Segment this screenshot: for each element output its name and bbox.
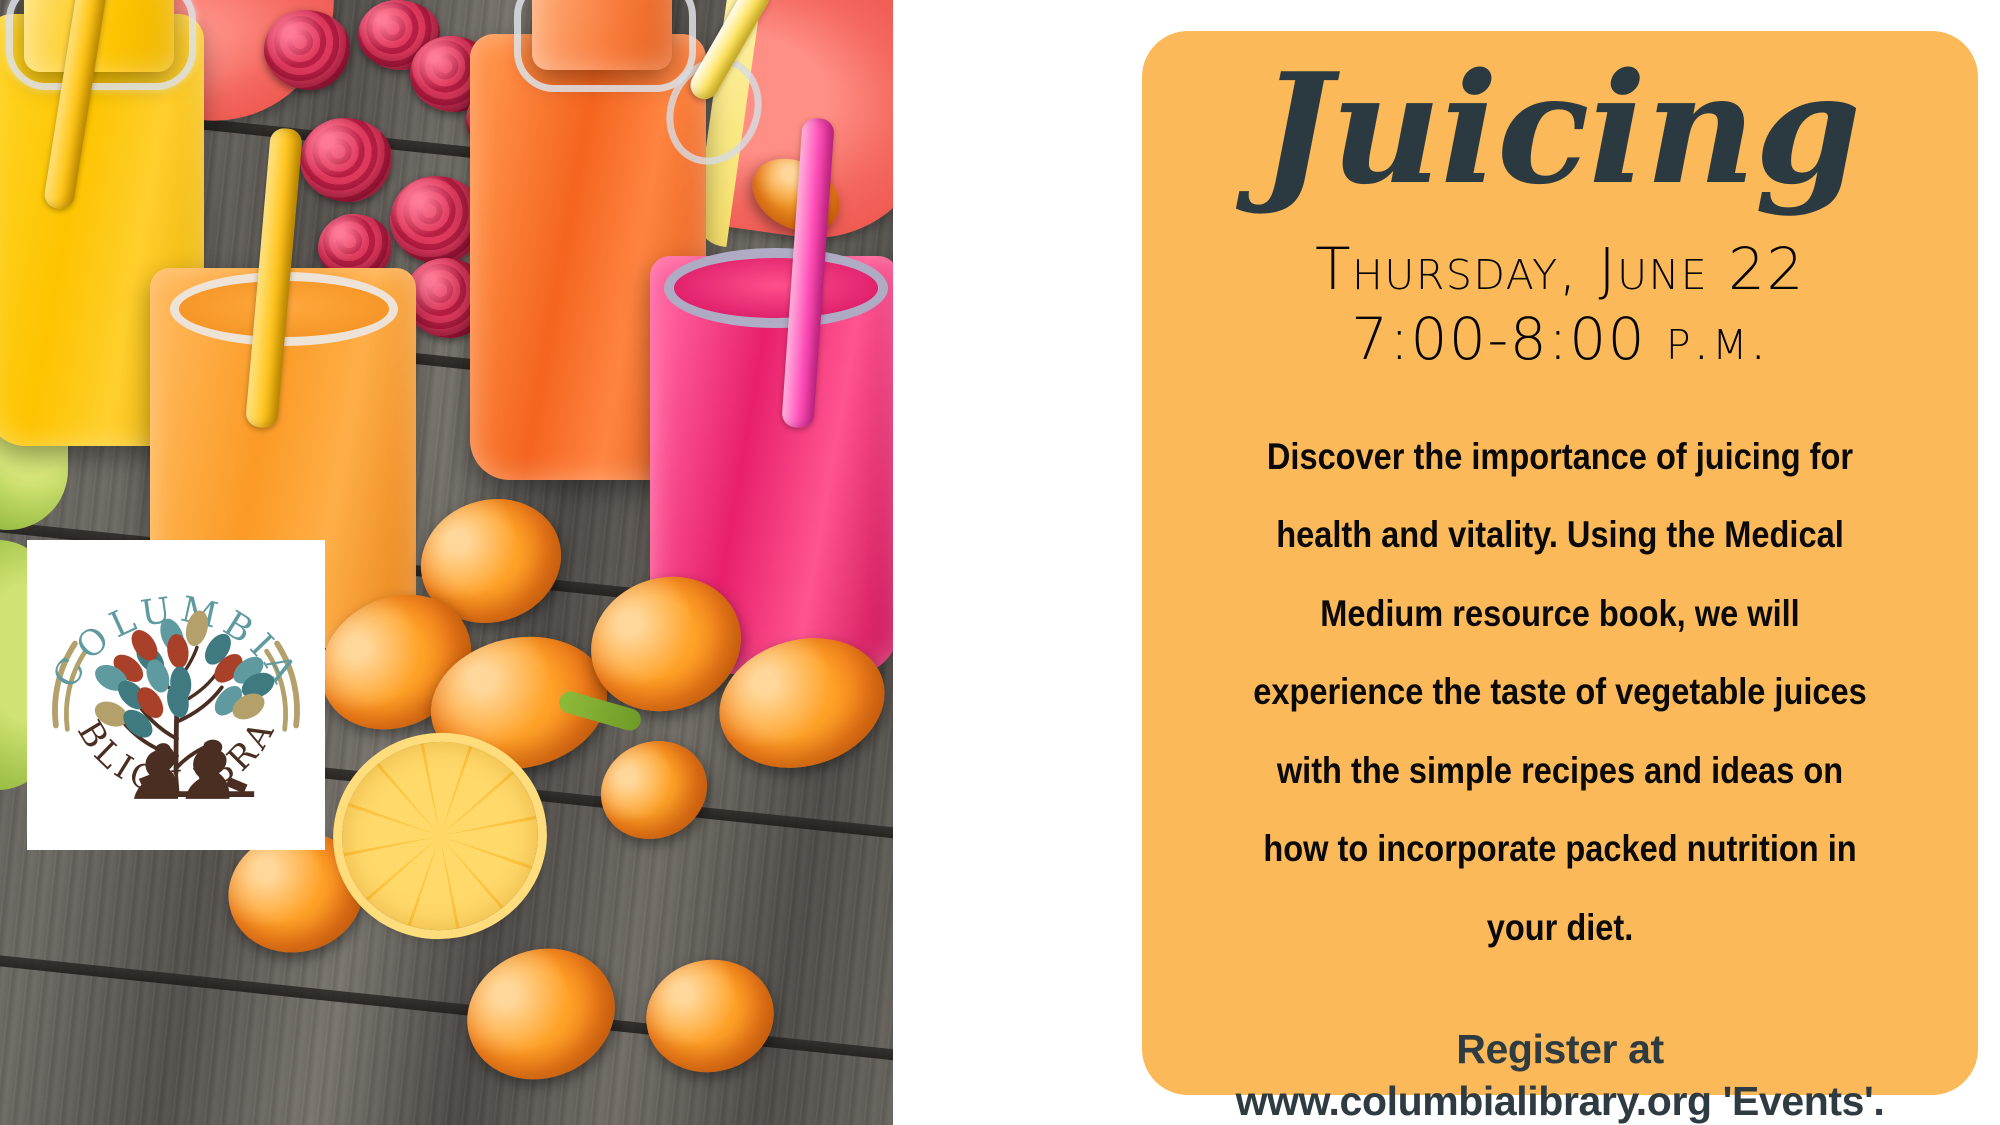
event-date: Thursday, June 22: [1315, 235, 1805, 303]
raspberry: [264, 10, 350, 90]
event-description: Discover the importance of juicing for h…: [1252, 418, 1868, 967]
registration-info: Register at www.columbialibrary.org 'Eve…: [1236, 1023, 1885, 1125]
poster-canvas: COLUMBIA PUBLIC LIBRARY: [0, 0, 2000, 1125]
jar-rim: [664, 248, 888, 328]
page-title: Juicing: [1260, 53, 1860, 205]
register-label: Register at: [1236, 1023, 1885, 1075]
event-time: 7:00-8:00 p.m.: [1351, 305, 1769, 373]
raspberry: [300, 118, 392, 202]
columbia-public-library-logo: COLUMBIA PUBLIC LIBRARY: [27, 540, 325, 850]
event-info-panel: Juicing Thursday, June 22 7:00-8:00 p.m.…: [1142, 31, 1978, 1095]
juice-photo: COLUMBIA PUBLIC LIBRARY: [0, 0, 893, 1125]
register-url[interactable]: www.columbialibrary.org 'Events'.: [1236, 1075, 1885, 1125]
bottle-clasp-wire: [514, 0, 696, 92]
